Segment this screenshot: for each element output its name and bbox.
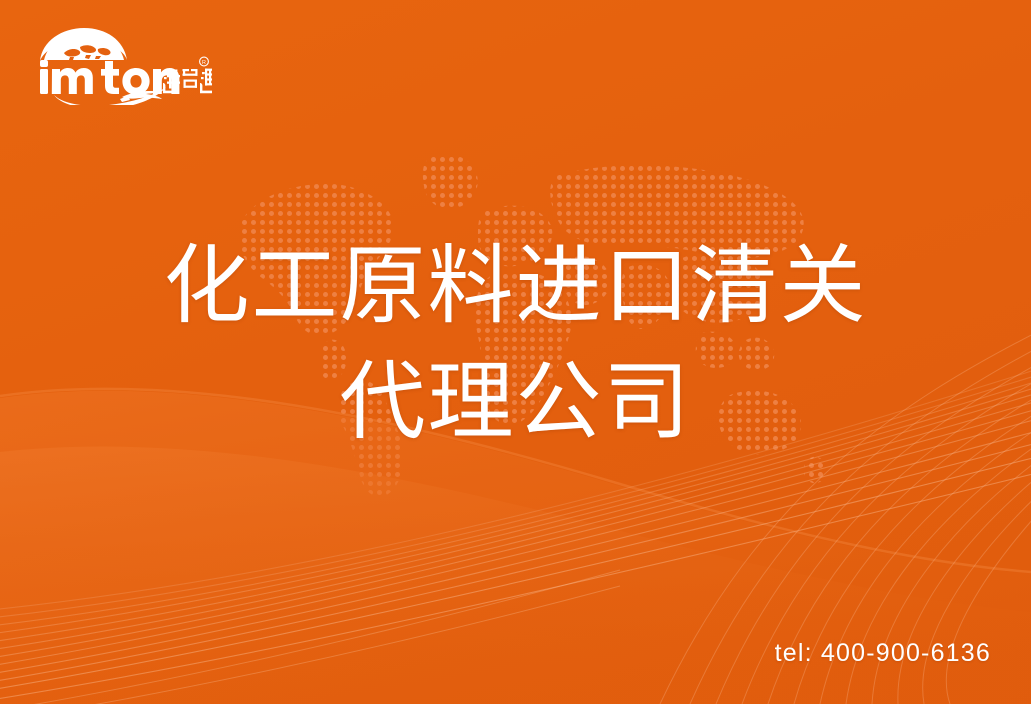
promotional-banner: R 化工原料进口清关 代理公司 tel: 400-900-6136	[0, 0, 1031, 704]
logo-chinese-name	[163, 69, 212, 94]
trademark-icon: R	[200, 57, 209, 66]
svg-text:R: R	[202, 60, 206, 66]
company-logo-svg: R	[36, 27, 212, 105]
logo-wordmark	[40, 60, 179, 95]
headline-line-2: 代理公司	[0, 344, 1031, 460]
globe-arc-icon	[40, 28, 127, 61]
contact-phone[interactable]: tel: 400-900-6136	[775, 639, 991, 668]
page-title: 化工原料进口清关 代理公司	[0, 228, 1031, 460]
headline-line-1: 化工原料进口清关	[0, 228, 1031, 344]
company-logo[interactable]: R	[36, 27, 212, 105]
